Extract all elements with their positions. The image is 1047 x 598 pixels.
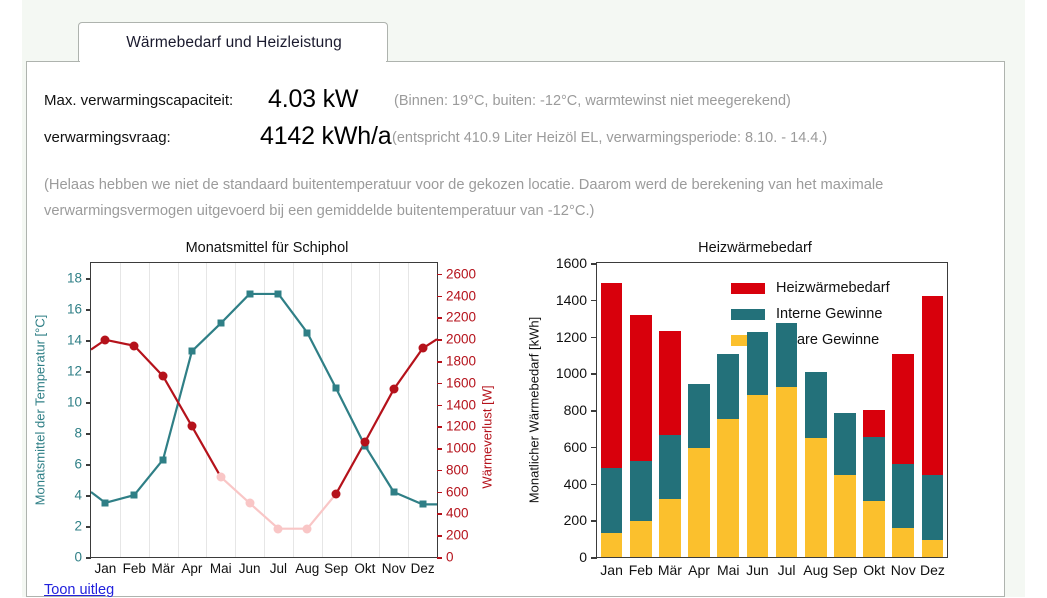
bar-segment xyxy=(805,438,827,557)
bar-segment xyxy=(717,419,739,557)
legend-swatch xyxy=(731,283,765,294)
bar-segment xyxy=(747,395,769,557)
summary-label-demand: verwarmingsvraag: xyxy=(44,129,171,146)
xtick-label-month: Apr xyxy=(181,561,202,576)
ytick-label-temperature: 12 xyxy=(67,364,82,379)
ytick-label-demand: 400 xyxy=(564,476,587,492)
ytick-label-heatloss: 1800 xyxy=(446,354,476,369)
data-point-heatloss xyxy=(216,472,225,481)
tick-y xyxy=(591,337,597,339)
ytick-label-demand: 1200 xyxy=(556,329,587,345)
summary-row-capacity: Max. verwarmingscapaciteit: 4.03 kW (Bin… xyxy=(44,88,954,125)
data-point-temperature xyxy=(246,290,253,297)
ytick-label-heatloss: 600 xyxy=(446,484,469,499)
tick-right xyxy=(437,492,442,494)
tab-join-mask xyxy=(80,60,386,63)
bar-stack xyxy=(659,331,681,557)
ytick-label-heatloss: 1400 xyxy=(446,397,476,412)
tick-right xyxy=(437,470,442,472)
bar-stack xyxy=(747,332,769,557)
chart-left-yaxis-label: Monatsmittel der Temperatur [°C] xyxy=(33,315,48,506)
ytick-label-heatloss: 2000 xyxy=(446,332,476,347)
xtick-label-month: Jul xyxy=(778,562,796,578)
legend-label: Heizwärmebedarf xyxy=(776,280,890,296)
summary-value-capacity: 4.03 kW xyxy=(268,85,358,114)
tick-y xyxy=(591,263,597,265)
ytick-label-temperature: 6 xyxy=(74,457,82,472)
tick-y xyxy=(591,557,597,559)
ytick-label-temperature: 14 xyxy=(67,333,82,348)
ytick-label-heatloss: 1000 xyxy=(446,441,476,456)
bar-stack xyxy=(717,354,739,557)
ytick-label-heatloss: 200 xyxy=(446,528,469,543)
ytick-label-demand: 1600 xyxy=(556,255,587,271)
ytick-label-demand: 1000 xyxy=(556,365,587,381)
ytick-label-heatloss: 2400 xyxy=(446,288,476,303)
bar-segment xyxy=(630,461,652,521)
xtick-label-month: Okt xyxy=(354,561,375,576)
data-point-heatloss xyxy=(274,524,283,533)
data-point-heatloss xyxy=(303,524,312,533)
bar-stack xyxy=(805,372,827,557)
ytick-label-temperature: 10 xyxy=(67,395,82,410)
chart-monthly-means: Monatsmittel für Schiphol Monatsmittel d… xyxy=(32,240,502,580)
bar-segment xyxy=(601,283,623,468)
xtick-label-month: Apr xyxy=(688,562,710,578)
data-point-heatloss xyxy=(159,372,168,381)
xtick-label-month: Jun xyxy=(746,562,769,578)
bar-segment xyxy=(601,533,623,557)
data-point-temperature xyxy=(333,385,340,392)
summary-label-capacity: Max. verwarmingscapaciteit: xyxy=(44,92,233,109)
ytick-label-heatloss: 1600 xyxy=(446,375,476,390)
ytick-label-temperature: 2 xyxy=(74,519,82,534)
data-point-temperature xyxy=(217,320,224,327)
bar-segment xyxy=(630,315,652,461)
data-point-temperature xyxy=(419,501,426,508)
data-point-heatloss xyxy=(360,438,369,447)
tick-right xyxy=(437,405,442,407)
chart-right-yaxis-label: Monatlicher Wärmebedarf [kWh] xyxy=(527,317,542,503)
tick-y xyxy=(591,447,597,449)
chart-left-title: Monatsmittel für Schiphol xyxy=(32,240,502,256)
xtick-label-month: Aug xyxy=(803,562,828,578)
legend-swatch xyxy=(731,309,765,320)
legend-item: Interne Gewinne xyxy=(731,301,890,327)
bar-segment xyxy=(892,464,914,527)
ytick-label-demand: 200 xyxy=(564,512,587,528)
ytick-label-heatloss: 800 xyxy=(446,462,469,477)
bar-segment xyxy=(717,354,739,419)
data-point-heatloss xyxy=(130,341,139,350)
bar-stack xyxy=(834,413,856,557)
bar-stack xyxy=(863,410,885,557)
xtick-label-month: Feb xyxy=(123,561,146,576)
ytick-label-temperature: 16 xyxy=(67,302,82,317)
ytick-label-heatloss: 2200 xyxy=(446,310,476,325)
bar-segment xyxy=(688,448,710,557)
tick-right xyxy=(437,557,442,559)
tick-y xyxy=(591,410,597,412)
tick-y xyxy=(591,484,597,486)
tick-right xyxy=(437,513,442,515)
data-point-temperature xyxy=(390,489,397,496)
bar-stack xyxy=(892,354,914,557)
tab-label: Wärmebedarf und Heizleistung xyxy=(79,23,389,63)
tick-right xyxy=(437,535,442,537)
legend-item: Heizwärmebedarf xyxy=(731,275,890,301)
bar-segment xyxy=(659,435,681,499)
bar-segment xyxy=(863,410,885,437)
ytick-label-demand: 1400 xyxy=(556,292,587,308)
tick-y xyxy=(591,373,597,375)
tick-y xyxy=(591,300,597,302)
ytick-label-temperature: 4 xyxy=(74,488,82,503)
summary-value-demand: 4142 kWh/a xyxy=(260,122,391,151)
bar-segment xyxy=(659,331,681,435)
bar-segment xyxy=(863,437,885,501)
chart-left-lines xyxy=(91,263,437,557)
tick-right xyxy=(437,274,442,276)
xtick-label-month: Mär xyxy=(151,561,174,576)
xtick-label-month: Mär xyxy=(658,562,682,578)
chart-left-plot-area: 0246810121416180200400600800100012001400… xyxy=(90,262,438,558)
bar-segment xyxy=(776,323,798,387)
bar-stack xyxy=(922,296,944,557)
tab-warmebedarf[interactable]: Wärmebedarf und Heizleistung xyxy=(78,22,388,62)
tick-y xyxy=(591,520,597,522)
bar-segment xyxy=(834,413,856,475)
bar-segment xyxy=(776,387,798,557)
bar-segment xyxy=(601,468,623,533)
data-point-heatloss xyxy=(187,422,196,431)
data-point-temperature xyxy=(131,492,138,499)
xtick-label-month: Okt xyxy=(863,562,885,578)
xtick-label-month: Sep xyxy=(324,561,348,576)
xtick-label-month: Aug xyxy=(295,561,319,576)
bar-segment xyxy=(834,475,856,557)
data-point-temperature xyxy=(275,290,282,297)
data-point-temperature xyxy=(304,329,311,336)
xtick-label-month: Dez xyxy=(411,561,435,576)
bar-segment xyxy=(747,332,769,395)
bar-segment xyxy=(805,372,827,437)
tick-right xyxy=(437,426,442,428)
xtick-label-month: Sep xyxy=(832,562,857,578)
tick-right xyxy=(437,296,442,298)
ytick-label-demand: 600 xyxy=(564,439,587,455)
chart-right-plot-area: HeizwärmebedarfInterne GewinneSolare Gew… xyxy=(596,262,948,558)
toon-uitleg-link[interactable]: Toon uitleg xyxy=(44,582,114,598)
bar-stack xyxy=(630,315,652,557)
chart-right-title: Heizwärmebedarf xyxy=(520,240,990,256)
data-point-heatloss xyxy=(101,335,110,344)
ytick-label-temperature: 0 xyxy=(74,550,82,565)
data-point-temperature xyxy=(160,456,167,463)
ytick-label-heatloss: 2600 xyxy=(446,266,476,281)
xtick-label-month: Jun xyxy=(239,561,261,576)
tick-right xyxy=(437,339,442,341)
xtick-label-month: Jul xyxy=(270,561,287,576)
bar-segment xyxy=(922,475,944,540)
ytick-label-heatloss: 0 xyxy=(446,550,454,565)
tick-right xyxy=(437,361,442,363)
bar-segment xyxy=(922,540,944,557)
data-point-heatloss xyxy=(332,489,341,498)
xtick-label-month: Jan xyxy=(600,562,623,578)
bar-stack xyxy=(601,283,623,557)
xtick-label-month: Dez xyxy=(920,562,945,578)
ytick-label-heatloss: 1200 xyxy=(446,419,476,434)
chart-heating-demand: Heizwärmebedarf Monatlicher Wärmebedarf … xyxy=(520,240,990,580)
xtick-label-month: Feb xyxy=(629,562,653,578)
ytick-label-demand: 0 xyxy=(579,549,587,565)
tick-right xyxy=(437,383,442,385)
data-point-temperature xyxy=(188,348,195,355)
bar-segment xyxy=(892,354,914,464)
summary-note-demand: (entspricht 410.9 Liter Heizöl EL, verwa… xyxy=(392,130,827,146)
ytick-label-temperature: 8 xyxy=(74,426,82,441)
data-point-heatloss xyxy=(418,344,427,353)
data-point-heatloss xyxy=(389,385,398,394)
legend-label: Interne Gewinne xyxy=(776,306,882,322)
tick-left xyxy=(86,557,91,559)
bar-segment xyxy=(892,528,914,557)
summary-note-capacity: (Binnen: 19°C, buiten: -12°C, warmtewins… xyxy=(394,93,791,109)
tick-right xyxy=(437,317,442,319)
bar-segment xyxy=(688,384,710,447)
xtick-label-month: Nov xyxy=(382,561,406,576)
xtick-label-month: Nov xyxy=(891,562,916,578)
bar-segment xyxy=(922,296,944,475)
ytick-label-temperature: 18 xyxy=(67,271,82,286)
chart-left-yaxis2-label: Wärmeverlust [W] xyxy=(480,386,495,489)
xtick-label-month: Mai xyxy=(717,562,740,578)
tick-right xyxy=(437,448,442,450)
bar-stack xyxy=(688,384,710,557)
summary-row-demand: verwarmingsvraag: 4142 kWh/a (entspricht… xyxy=(44,125,954,162)
ytick-label-heatloss: 400 xyxy=(446,506,469,521)
ytick-label-demand: 800 xyxy=(564,402,587,418)
disclaimer-paragraph: (Helaas hebben we niet de standaard buit… xyxy=(44,172,964,224)
data-point-heatloss xyxy=(245,499,254,508)
bar-segment xyxy=(630,521,652,557)
bar-stack xyxy=(776,323,798,557)
summary-block: Max. verwarmingscapaciteit: 4.03 kW (Bin… xyxy=(44,88,954,162)
bar-segment xyxy=(863,501,885,557)
data-point-temperature xyxy=(102,499,109,506)
xtick-label-month: Mai xyxy=(210,561,232,576)
xtick-label-month: Jan xyxy=(95,561,117,576)
bar-segment xyxy=(659,499,681,557)
